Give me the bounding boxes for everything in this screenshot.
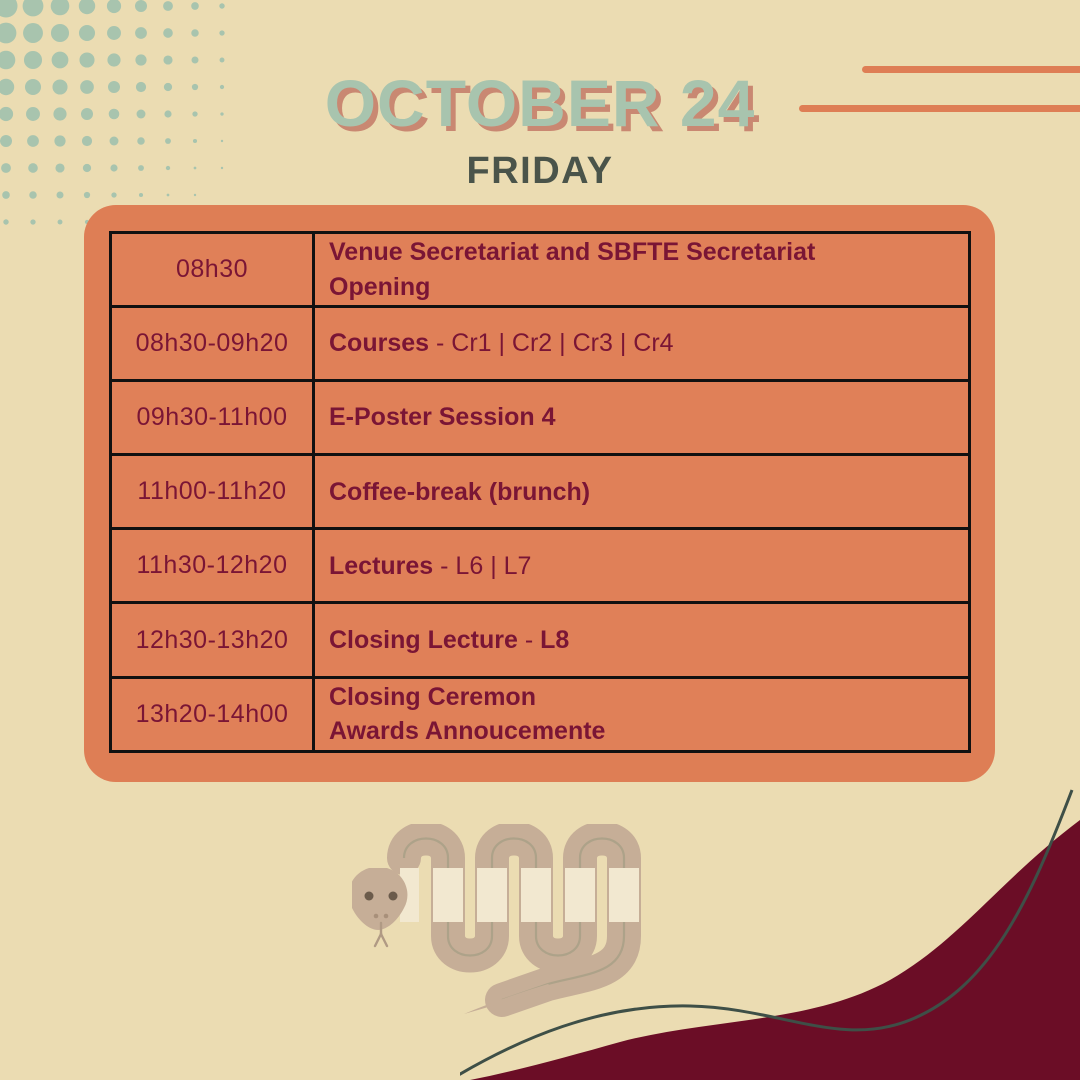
schedule-table: 08h30Venue Secretariat and SBFTE Secreta… bbox=[109, 231, 971, 753]
schedule-row: 08h30-09h20Courses - Cr1 | Cr2 | Cr3 | C… bbox=[111, 307, 970, 381]
schedule-row: 08h30Venue Secretariat and SBFTE Secreta… bbox=[111, 233, 970, 307]
schedule-row: 11h30-12h20Lectures - L6 | L7 bbox=[111, 529, 970, 603]
snake-logo bbox=[352, 824, 712, 1029]
schedule-panel: 08h30Venue Secretariat and SBFTE Secreta… bbox=[84, 205, 995, 782]
page-subtitle-weekday: FRIDAY bbox=[0, 152, 1080, 190]
schedule-event-cell: E-Poster Session 4 bbox=[314, 381, 970, 455]
schedule-time-cell: 13h20-14h00 bbox=[111, 677, 314, 751]
schedule-event-cell: Courses - Cr1 | Cr2 | Cr3 | Cr4 bbox=[314, 307, 970, 381]
schedule-event-cell: Closing Lecture - L8 bbox=[314, 603, 970, 677]
schedule-time-cell: 08h30-09h20 bbox=[111, 307, 314, 381]
schedule-row: 09h30-11h00E-Poster Session 4 bbox=[111, 381, 970, 455]
schedule-time-cell: 09h30-11h00 bbox=[111, 381, 314, 455]
schedule-event-cell: Closing CeremonAwards Annoucemente bbox=[314, 677, 970, 751]
schedule-time-cell: 08h30 bbox=[111, 233, 314, 307]
corner-decoration bbox=[460, 780, 1080, 1080]
schedule-row: 12h30-13h20Closing Lecture - L8 bbox=[111, 603, 970, 677]
page-title-month-day: OCTOBER 24 bbox=[0, 70, 1080, 136]
schedule-event-cell: Lectures - L6 | L7 bbox=[314, 529, 970, 603]
maroon-corner-shape bbox=[470, 820, 1080, 1080]
schedule-row: 11h00-11h20Coffee-break (brunch) bbox=[111, 455, 970, 529]
schedule-time-cell: 11h00-11h20 bbox=[111, 455, 314, 529]
header: OCTOBER 24 FRIDAY bbox=[0, 70, 1080, 190]
schedule-time-cell: 11h30-12h20 bbox=[111, 529, 314, 603]
schedule-row: 13h20-14h00Closing CeremonAwards Annouce… bbox=[111, 677, 970, 751]
thin-green-curve bbox=[460, 790, 1072, 1080]
schedule-event-cell: Venue Secretariat and SBFTE SecretariatO… bbox=[314, 233, 970, 307]
schedule-time-cell: 12h30-13h20 bbox=[111, 603, 314, 677]
schedule-event-cell: Coffee-break (brunch) bbox=[314, 455, 970, 529]
